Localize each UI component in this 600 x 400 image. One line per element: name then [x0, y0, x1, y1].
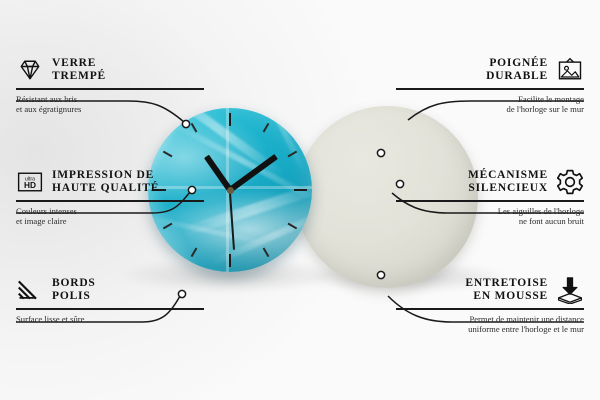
arrow-down-foam-icon [556, 276, 584, 304]
callout-rule [396, 88, 584, 90]
callout-title: POIGNÉE DURABLE [486, 57, 548, 83]
callout-header: BORDS POLIS [16, 276, 204, 304]
callout-header: ENTRETOISE EN MOUSSE [396, 276, 584, 304]
callout-header: POIGNÉE DURABLE [396, 56, 584, 84]
callout-rule [16, 200, 204, 202]
callout-desc-line: Les aiguilles de l'horloge [396, 206, 584, 217]
infographic-stage: VERRE TREMPÉ Résistant aux bris et aux é… [0, 0, 600, 400]
clock-center-cap [227, 187, 234, 194]
clock-tick [229, 254, 231, 267]
clock-tick [229, 113, 231, 126]
callout-desc-line: ne font aucun bruit [396, 216, 584, 227]
feather-pattern [249, 108, 307, 174]
callout-rule [16, 88, 204, 90]
clock-tick [263, 123, 270, 133]
callout-verre-trempe: VERRE TREMPÉ Résistant aux bris et aux é… [16, 56, 204, 115]
clock-tick [191, 248, 198, 258]
callout-title: BORDS POLIS [52, 277, 96, 303]
picture-frame-hanger-icon [556, 56, 584, 84]
callout-mecanisme-silencieux: MÉCANISME SILENCIEUX Les aiguilles de l'… [396, 168, 584, 227]
callout-desc-line: Résistant aux bris [16, 94, 204, 105]
callout-header: VERRE TREMPÉ [16, 56, 204, 84]
callout-rule [16, 308, 204, 310]
callout-poignee-durable: POIGNÉE DURABLE Facilite le montage de l… [396, 56, 584, 115]
callout-desc-line: et image claire [16, 216, 204, 227]
diagonal-lines-icon [16, 276, 44, 304]
callout-rule [396, 308, 584, 310]
callout-desc-line: et aux égratignures [16, 104, 204, 115]
callout-desc-line: Couleurs intenses [16, 206, 204, 217]
callout-header: MÉCANISME SILENCIEUX [396, 168, 584, 196]
callout-title: VERRE TREMPÉ [52, 57, 106, 83]
callout-header: ultra HD IMPRESSION DE HAUTE QUALITÉ [16, 168, 204, 196]
clock-tick [263, 248, 270, 258]
callout-desc-line: uniforme entre l'horloge et le mur [396, 324, 584, 335]
diamond-icon [16, 56, 44, 84]
clock-tick [294, 189, 307, 191]
callout-title: IMPRESSION DE HAUTE QUALITÉ [52, 169, 159, 195]
callout-rule [396, 200, 584, 202]
callout-desc-line: Facilite le montage [396, 94, 584, 105]
callout-bords-polis: BORDS POLIS Surface lisse et sûre [16, 276, 204, 324]
gear-icon [556, 168, 584, 196]
callout-desc-line: de l'horloge sur le mur [396, 104, 584, 115]
clock-tick [163, 151, 173, 158]
svg-text:HD: HD [24, 180, 36, 190]
callout-title: MÉCANISME SILENCIEUX [468, 169, 548, 195]
ultra-hd-icon: ultra HD [16, 168, 44, 196]
callout-desc-line: Surface lisse et sûre [16, 314, 204, 325]
callout-desc-line: Permet de maintenir une distance [396, 314, 584, 325]
callout-impression-haute-qualite: ultra HD IMPRESSION DE HAUTE QUALITÉ Cou… [16, 168, 204, 227]
callout-entretoise-en-mousse: ENTRETOISE EN MOUSSE Permet de maintenir… [396, 276, 584, 335]
callout-title: ENTRETOISE EN MOUSSE [465, 277, 548, 303]
